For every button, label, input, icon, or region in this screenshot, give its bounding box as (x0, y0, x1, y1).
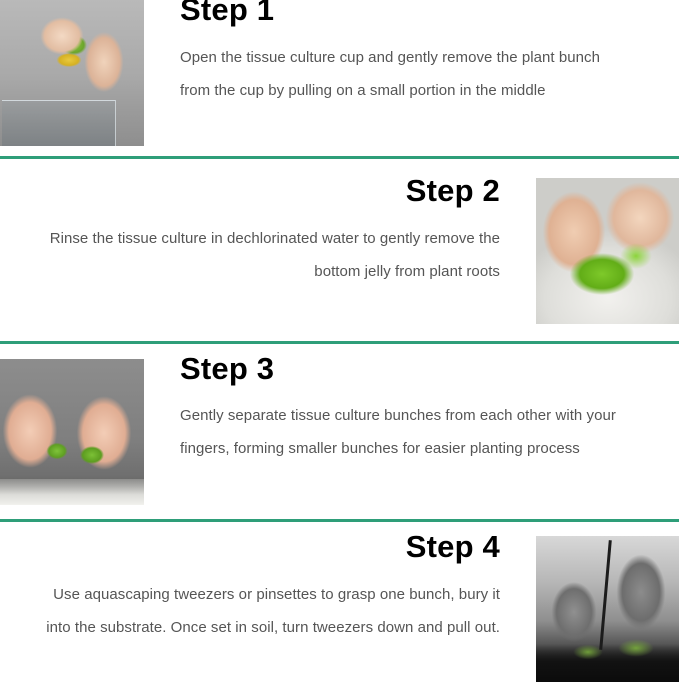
step-3-heading: Step 3 (180, 353, 630, 386)
divider-3 (0, 519, 679, 522)
step-block-2: Step 2 Rinse the tissue culture in dechl… (0, 165, 679, 341)
step-2-heading: Step 2 (40, 175, 500, 208)
step-block-4: Step 4 Use aquascaping tweezers or pinse… (0, 523, 679, 683)
divider-2 (0, 341, 679, 344)
step-4-photo (536, 536, 679, 682)
step-3-photo-image (0, 359, 144, 505)
step-4-body: Use aquascaping tweezers or pinsettes to… (40, 578, 500, 644)
step-1-body: Open the tissue culture cup and gently r… (180, 41, 630, 107)
step-3-body: Gently separate tissue culture bunches f… (180, 399, 630, 465)
step-1-text: Step 1 Open the tissue culture cup and g… (180, 0, 630, 107)
step-1-heading: Step 1 (180, 0, 630, 27)
step-3-photo (0, 359, 144, 505)
step-block-1: Step 1 Open the tissue culture cup and g… (0, 0, 679, 152)
step-2-photo-image (536, 178, 679, 324)
divider-1 (0, 156, 679, 159)
step-1-photo (0, 0, 144, 146)
step-4-text: Step 4 Use aquascaping tweezers or pinse… (40, 531, 500, 644)
step-2-text: Step 2 Rinse the tissue culture in dechl… (40, 175, 500, 288)
step-4-heading: Step 4 (40, 531, 500, 564)
steps-infographic: Step 1 Open the tissue culture cup and g… (0, 0, 679, 683)
step-block-3: Step 3 Gently separate tissue culture bu… (0, 345, 679, 519)
step-1-photo-image (0, 0, 144, 146)
step-2-photo (536, 178, 679, 324)
step-4-photo-image (536, 536, 679, 682)
step-3-text: Step 3 Gently separate tissue culture bu… (180, 353, 630, 465)
step-2-body: Rinse the tissue culture in dechlorinate… (40, 222, 500, 288)
